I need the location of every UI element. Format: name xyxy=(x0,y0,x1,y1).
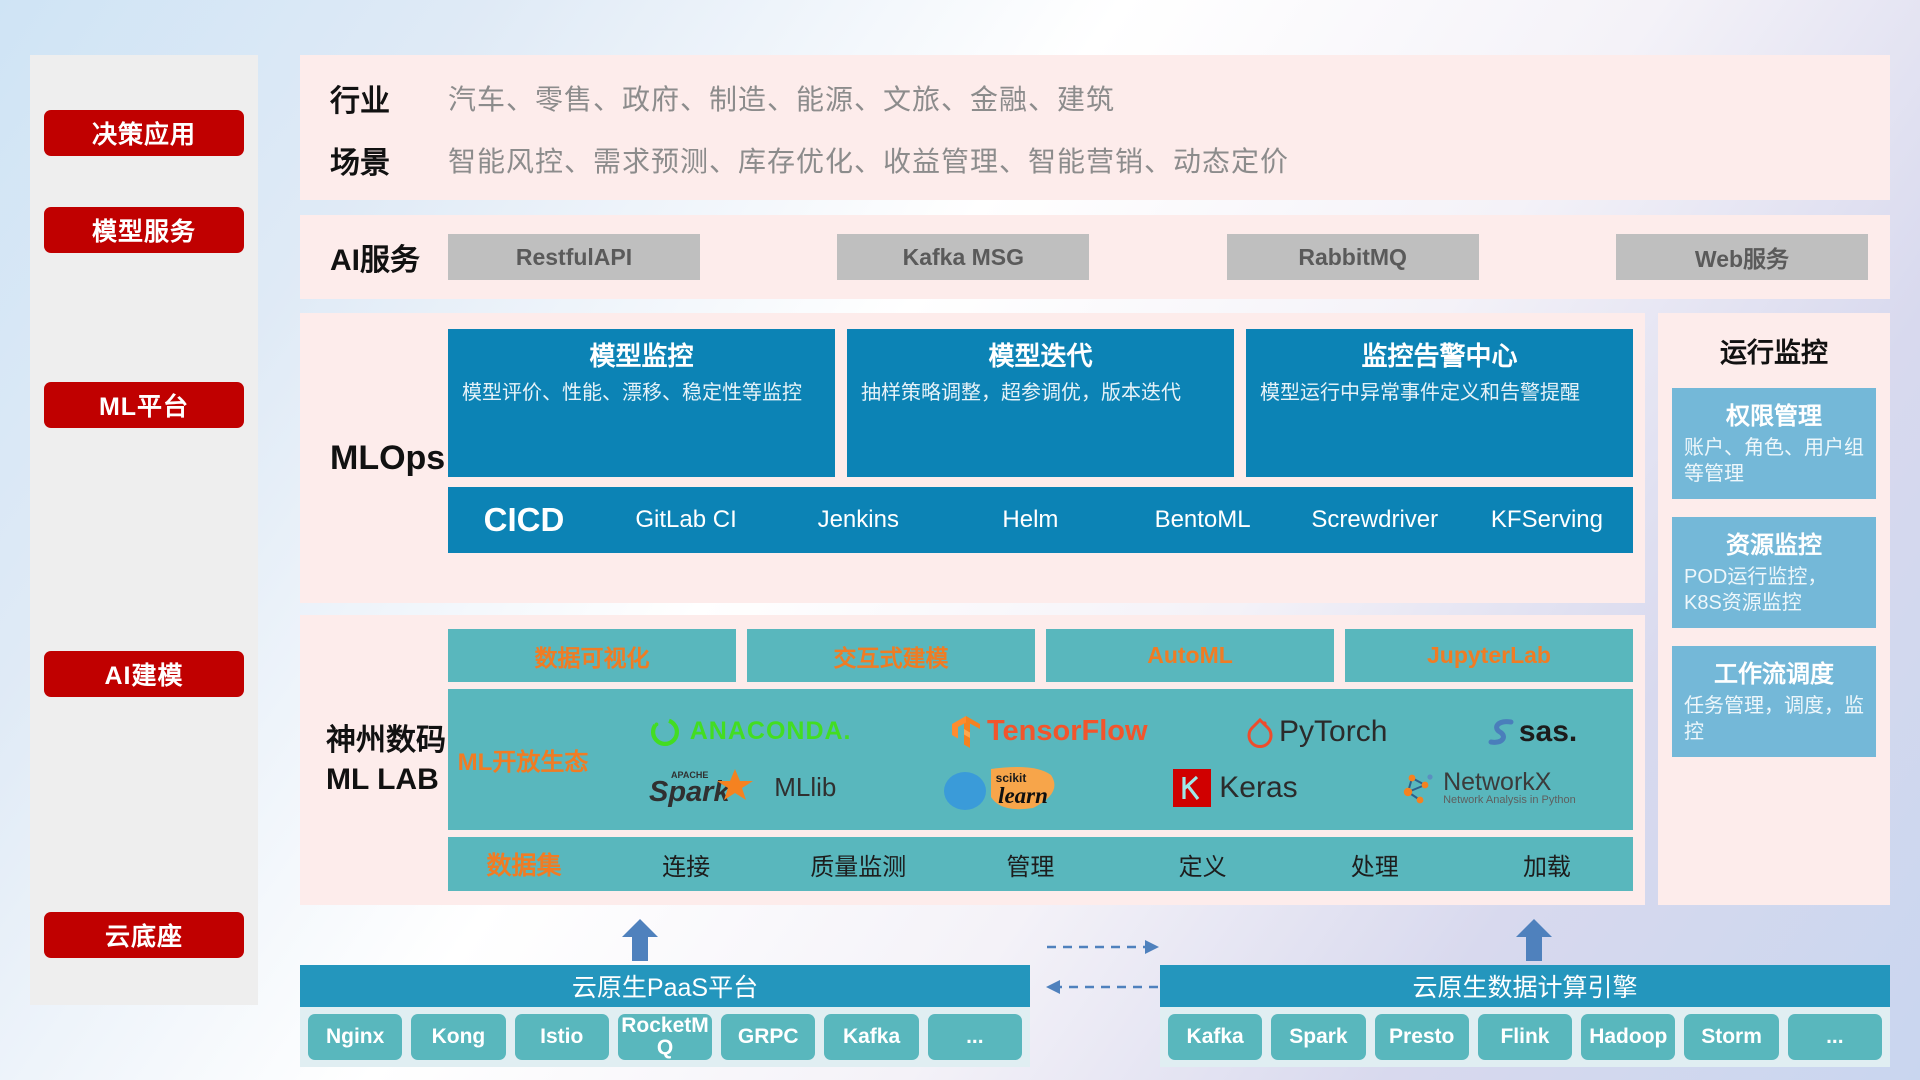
compute-chip-more[interactable]: ... xyxy=(1788,1014,1882,1060)
ai-service-chip-list: RestfulAPI Kafka MSG RabbitMQ Web服务 xyxy=(448,234,1890,280)
cicd-item-jenkins[interactable]: Jenkins xyxy=(772,507,944,532)
rail-label: 模型服务 xyxy=(92,212,196,248)
tensorflow-icon xyxy=(951,715,981,749)
svg-text:learn: learn xyxy=(998,783,1048,808)
anaconda-logo: ANACONDA. xyxy=(648,715,852,749)
tensorflow-wordmark: TensorFlow xyxy=(987,715,1148,748)
paas-header: 云原生PaaS平台 xyxy=(300,965,1030,1007)
compute-chip-storm[interactable]: Storm xyxy=(1684,1014,1778,1060)
card-desc: POD运行监控，K8S资源监控 xyxy=(1684,564,1864,616)
scenario-row: 场景 智能风控、需求预测、库存优化、收益管理、智能营销、动态定价 xyxy=(300,129,1890,191)
cicd-item-kfserving[interactable]: KFServing xyxy=(1461,507,1633,532)
mlops-card-alert-center[interactable]: 监控告警中心 模型运行中异常事件定义和告警提醒 xyxy=(1246,329,1633,477)
svg-text:Spark: Spark xyxy=(649,776,731,808)
dataset-bar: 数据集 连接 质量监测 管理 定义 处理 加载 xyxy=(448,837,1633,891)
card-title: 权限管理 xyxy=(1684,396,1864,431)
cicd-item-screwdriver[interactable]: Screwdriver xyxy=(1289,507,1461,532)
monitoring-title: 运行监控 xyxy=(1658,313,1890,370)
mlops-band: MLOps 模型监控 模型评价、性能、漂移、稳定性等监控 模型迭代 抽样策略调整… xyxy=(300,313,1645,603)
mlops-card-list: 模型监控 模型评价、性能、漂移、稳定性等监控 模型迭代 抽样策略调整，超参调优，… xyxy=(448,329,1633,477)
ai-service-band: AI服务 RestfulAPI Kafka MSG RabbitMQ Web服务 xyxy=(300,215,1890,299)
mlops-label: MLOps xyxy=(300,313,448,603)
spark-icon: Spark APACHE xyxy=(649,767,767,809)
dataset-title: 数据集 xyxy=(448,846,600,882)
runtime-monitoring-panel: 运行监控 权限管理 账户、角色、用户组等管理 资源监控 POD运行监控，K8S资… xyxy=(1658,313,1890,905)
tool-tab-automl[interactable]: AutoML xyxy=(1046,629,1334,682)
dataset-item-define[interactable]: 定义 xyxy=(1117,847,1289,882)
paas-chip-istio[interactable]: Istio xyxy=(515,1014,609,1060)
cloud-group-paas: 云原生PaaS平台 Nginx Kong Istio RocketMQ GRPC… xyxy=(300,965,1030,1067)
networkx-logo: NetworkX Network Analysis in Python xyxy=(1400,770,1576,806)
cloud-group-compute: 云原生数据计算引擎 Kafka Spark Presto Flink Hadoo… xyxy=(1160,965,1890,1067)
compute-chip-kafka[interactable]: Kafka xyxy=(1168,1014,1262,1060)
paas-chip-more[interactable]: ... xyxy=(928,1014,1022,1060)
tool-tab-interactive-modeling[interactable]: 交互式建模 xyxy=(747,629,1035,682)
networkx-wordmark: NetworkX xyxy=(1443,770,1576,795)
ecosystem-logo-grid: ANACONDA. TensorFlow xyxy=(598,706,1633,814)
card-desc: 模型运行中异常事件定义和告警提醒 xyxy=(1260,380,1619,407)
ai-modeling-content: 数据可视化 交互式建模 AutoML JupyterLab ML开放生态 xyxy=(448,615,1645,905)
dataset-item-load[interactable]: 加载 xyxy=(1461,847,1633,882)
keras-icon xyxy=(1173,769,1211,807)
compute-chip-flink[interactable]: Flink xyxy=(1478,1014,1572,1060)
rail-label: AI建模 xyxy=(104,656,183,692)
scenario-values: 智能风控、需求预测、库存优化、收益管理、智能营销、动态定价 xyxy=(448,140,1289,180)
card-desc: 任务管理，调度，监控 xyxy=(1684,693,1864,745)
cicd-item-helm[interactable]: Helm xyxy=(944,507,1116,532)
scikit-learn-icon: scikit learn xyxy=(939,763,1071,813)
spark-mllib-logo: Spark APACHE MLlib xyxy=(649,767,836,809)
scikit-learn-logo: scikit learn xyxy=(939,763,1071,813)
rail-item-decision-apps[interactable]: 决策应用 xyxy=(44,110,244,156)
ai-modeling-band: 神州数码 ML LAB 数据可视化 交互式建模 AutoML JupyterLa… xyxy=(300,615,1645,905)
compute-chip-list: Kafka Spark Presto Flink Hadoop Storm ..… xyxy=(1160,1007,1890,1067)
rail-item-ai-modeling[interactable]: AI建模 xyxy=(44,651,244,697)
rail-item-model-service[interactable]: 模型服务 xyxy=(44,207,244,253)
pytorch-wordmark: PyTorch xyxy=(1279,715,1387,749)
up-arrow-icon-paas xyxy=(618,917,662,961)
compute-chip-presto[interactable]: Presto xyxy=(1375,1014,1469,1060)
mllib-wordmark: MLlib xyxy=(774,772,836,803)
dataset-item-process[interactable]: 处理 xyxy=(1289,847,1461,882)
service-chip-rabbitmq[interactable]: RabbitMQ xyxy=(1227,234,1479,280)
sas-icon xyxy=(1487,716,1517,748)
modeling-tool-tabs: 数据可视化 交互式建模 AutoML JupyterLab xyxy=(448,629,1633,682)
rail-item-ml-platform[interactable]: ML平台 xyxy=(44,382,244,428)
card-desc: 账户、角色、用户组等管理 xyxy=(1684,435,1864,487)
ml-open-ecosystem: ML开放生态 ANACONDA. xyxy=(448,689,1633,830)
card-title: 监控告警中心 xyxy=(1260,339,1619,374)
paas-chip-grpc[interactable]: GRPC xyxy=(721,1014,815,1060)
industry-row: 行业 汽车、零售、政府、制造、能源、文旅、金融、建筑 xyxy=(300,67,1890,129)
service-chip-web[interactable]: Web服务 xyxy=(1616,234,1868,280)
cicd-title: CICD xyxy=(448,501,600,539)
rail-label: ML平台 xyxy=(99,387,189,423)
keras-wordmark: Keras xyxy=(1219,771,1297,805)
svg-text:APACHE: APACHE xyxy=(671,770,708,780)
paas-chip-nginx[interactable]: Nginx xyxy=(308,1014,402,1060)
sas-wordmark: sas. xyxy=(1519,715,1577,749)
ml-lab-label-line1: 神州数码 xyxy=(326,721,446,760)
pytorch-icon xyxy=(1247,716,1273,748)
card-title: 资源监控 xyxy=(1684,525,1864,560)
card-desc: 抽样策略调整，超参调优，版本迭代 xyxy=(861,380,1220,407)
cicd-item-bentoml[interactable]: BentoML xyxy=(1117,507,1289,532)
service-chip-restfulapi[interactable]: RestfulAPI xyxy=(448,234,700,280)
left-rail: 决策应用 模型服务 ML平台 AI建模 云底座 xyxy=(30,55,258,1005)
card-title: 模型监控 xyxy=(462,339,821,374)
ml-lab-label-line2: ML LAB xyxy=(326,760,446,799)
industry-values: 汽车、零售、政府、制造、能源、文旅、金融、建筑 xyxy=(448,78,1115,118)
logo-row-2: Spark APACHE MLlib scikit xyxy=(598,762,1627,814)
compute-header: 云原生数据计算引擎 xyxy=(1160,965,1890,1007)
pytorch-logo: PyTorch xyxy=(1247,715,1387,749)
decision-apps-band: 行业 汽车、零售、政府、制造、能源、文旅、金融、建筑 场景 智能风控、需求预测、… xyxy=(300,55,1890,200)
mlops-card-model-iteration[interactable]: 模型迭代 抽样策略调整，超参调优，版本迭代 xyxy=(847,329,1234,477)
keras-logo: Keras xyxy=(1173,769,1297,807)
paas-chip-rocketmq[interactable]: RocketMQ xyxy=(618,1014,712,1060)
logo-row-1: ANACONDA. TensorFlow xyxy=(598,706,1627,758)
monitor-card-resource[interactable]: 资源监控 POD运行监控，K8S资源监控 xyxy=(1672,517,1876,628)
rail-label: 云底座 xyxy=(105,917,183,953)
industry-label: 行业 xyxy=(330,76,448,120)
scenario-label: 场景 xyxy=(330,138,448,182)
dataset-item-manage[interactable]: 管理 xyxy=(944,847,1116,882)
ecosystem-label: ML开放生态 xyxy=(448,742,598,777)
card-title: 模型迭代 xyxy=(861,339,1220,374)
compute-chip-hadoop[interactable]: Hadoop xyxy=(1581,1014,1675,1060)
ai-service-label: AI服务 xyxy=(300,235,448,279)
up-arrow-icon-compute xyxy=(1512,917,1556,961)
sas-logo: sas. xyxy=(1487,715,1577,749)
compute-chip-spark[interactable]: Spark xyxy=(1271,1014,1365,1060)
networkx-tagline: Network Analysis in Python xyxy=(1443,795,1576,806)
ml-lab-label: 神州数码 ML LAB xyxy=(300,615,448,905)
card-desc: 模型评价、性能、漂移、稳定性等监控 xyxy=(462,380,821,407)
cicd-item-gitlab-ci[interactable]: GitLab CI xyxy=(600,507,772,532)
rail-label: 决策应用 xyxy=(92,115,196,151)
mlops-content: 模型监控 模型评价、性能、漂移、稳定性等监控 模型迭代 抽样策略调整，超参调优，… xyxy=(448,313,1645,603)
tensorflow-logo: TensorFlow xyxy=(951,715,1148,749)
anaconda-wordmark: ANACONDA. xyxy=(690,717,852,746)
anaconda-icon xyxy=(648,715,682,749)
dataset-item-connect[interactable]: 连接 xyxy=(600,847,772,882)
rail-item-cloud-base[interactable]: 云底座 xyxy=(44,912,244,958)
paas-chip-list: Nginx Kong Istio RocketMQ GRPC Kafka ... xyxy=(300,1007,1030,1067)
tool-tab-jupyterlab[interactable]: JupyterLab xyxy=(1345,629,1633,682)
monitor-card-permission[interactable]: 权限管理 账户、角色、用户组等管理 xyxy=(1672,388,1876,499)
service-chip-kafka-msg[interactable]: Kafka MSG xyxy=(837,234,1089,280)
paas-chip-kong[interactable]: Kong xyxy=(411,1014,505,1060)
dataset-item-quality[interactable]: 质量监测 xyxy=(772,847,944,882)
bidirectional-dashed-arrows xyxy=(1045,933,1160,999)
monitor-card-workflow[interactable]: 工作流调度 任务管理，调度，监控 xyxy=(1672,646,1876,757)
mlops-card-model-monitoring[interactable]: 模型监控 模型评价、性能、漂移、稳定性等监控 xyxy=(448,329,835,477)
tool-tab-data-visualization[interactable]: 数据可视化 xyxy=(448,629,736,682)
cicd-bar: CICD GitLab CI Jenkins Helm BentoML Scre… xyxy=(448,487,1633,553)
paas-chip-kafka[interactable]: Kafka xyxy=(824,1014,918,1060)
card-title: 工作流调度 xyxy=(1684,654,1864,689)
networkx-icon xyxy=(1400,770,1438,806)
